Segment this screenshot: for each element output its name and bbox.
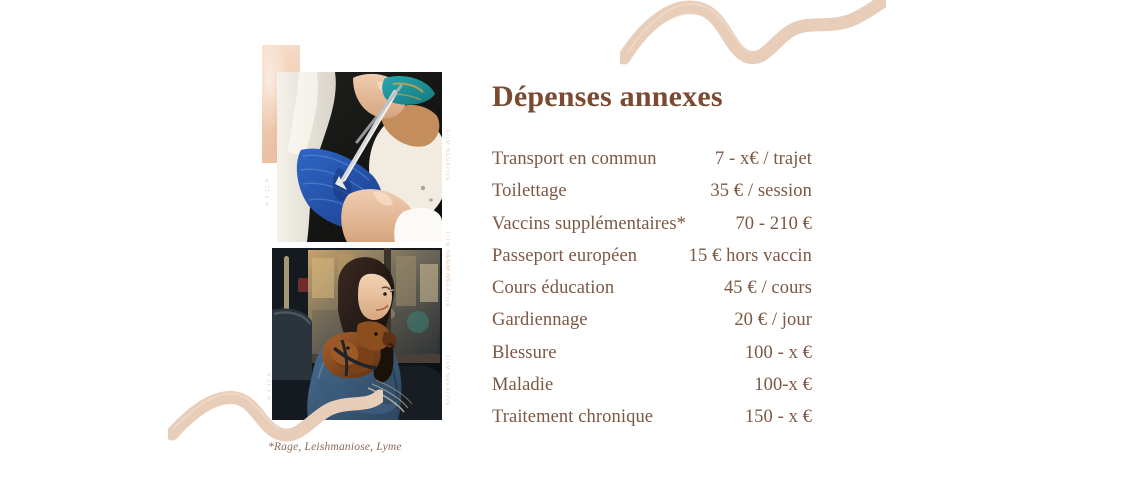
- list-item: Cours éducation 45 € / cours: [492, 278, 812, 310]
- price-list: Transport en commun 7 - x€ / trajet Toil…: [492, 149, 812, 440]
- list-item: Vaccins supplémentaires* 70 - 210 €: [492, 214, 812, 246]
- film-negative-label: FILM NEGATIVE: [444, 130, 450, 182]
- film-negative-label: FILM NEGATIVE: [444, 355, 450, 407]
- list-item: Passeport européen 15 € hors vaccin: [492, 246, 812, 278]
- slide-canvas: FILM NEGATIVE FILM NEGATIVE FILM NEGATIV…: [0, 0, 1134, 490]
- price-label: Toilettage: [492, 181, 567, 202]
- price-label: Vaccins supplémentaires*: [492, 214, 686, 235]
- price-value: 45 € / cours: [724, 278, 812, 299]
- footnote-text: *Rage, Leishmaniose, Lyme: [268, 441, 402, 453]
- list-item: Gardiennage 20 € / jour: [492, 310, 812, 342]
- photo-vet-bandaging-dog-leg: [277, 72, 442, 242]
- list-item: Transport en commun 7 - x€ / trajet: [492, 149, 812, 181]
- page-title: Dépenses annexes: [492, 82, 723, 112]
- price-label: Passeport européen: [492, 246, 637, 267]
- price-label: Cours éducation: [492, 278, 614, 299]
- list-item: Traitement chronique 150 - x €: [492, 407, 812, 439]
- price-value: 100-x €: [754, 375, 812, 396]
- price-value: 15 € hors vaccin: [689, 246, 812, 267]
- list-item: Blessure 100 - x €: [492, 343, 812, 375]
- content-column: Dépenses annexes Transport en commun 7 -…: [492, 0, 822, 490]
- film-code-label: N 4 11 A: [265, 178, 271, 206]
- price-value: 35 € / session: [710, 181, 812, 202]
- price-value: 100 - x €: [745, 343, 812, 364]
- film-code-label: N 4 11 A: [267, 372, 273, 400]
- price-label: Transport en commun: [492, 149, 657, 170]
- price-value: 7 - x€ / trajet: [715, 149, 812, 170]
- list-item: Toilettage 35 € / session: [492, 181, 812, 213]
- price-label: Traitement chronique: [492, 407, 653, 428]
- image-collage: FILM NEGATIVE FILM NEGATIVE FILM NEGATIV…: [0, 0, 470, 490]
- price-value: 20 € / jour: [734, 310, 812, 331]
- price-label: Blessure: [492, 343, 557, 364]
- price-value: 150 - x €: [745, 407, 812, 428]
- film-negative-label: FILM NEGATIVE: [444, 256, 450, 308]
- price-value: 70 - 210 €: [735, 214, 812, 235]
- price-label: Maladie: [492, 375, 553, 396]
- price-label: Gardiennage: [492, 310, 588, 331]
- photo-woman-with-dachshund-on-bus: [272, 248, 442, 420]
- list-item: Maladie 100-x €: [492, 375, 812, 407]
